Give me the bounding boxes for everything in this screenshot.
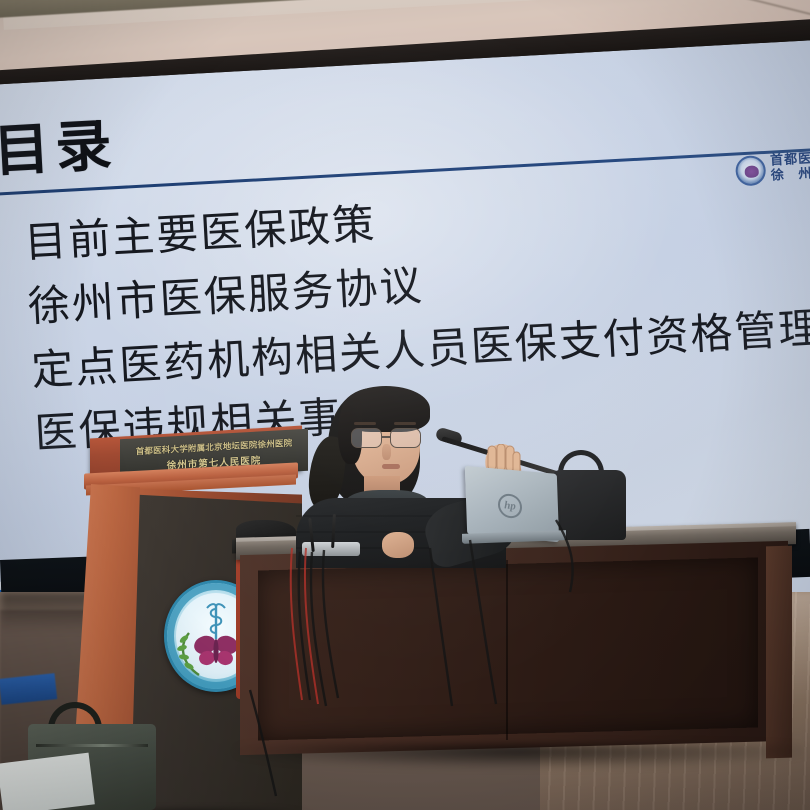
floor-bag-zipper bbox=[36, 744, 148, 747]
desk-right-post bbox=[766, 546, 792, 759]
microphone-cluster bbox=[292, 520, 388, 560]
eyeglass-lens-right bbox=[390, 428, 421, 448]
presenter-mouth bbox=[382, 464, 400, 469]
eyeglass-lens-left bbox=[351, 428, 382, 448]
desk-shadow bbox=[236, 744, 806, 768]
presenter-eyebrow-left bbox=[354, 422, 376, 425]
ceiling-crack bbox=[662, 0, 810, 22]
floor-paper bbox=[0, 753, 95, 810]
desk-panel-seam bbox=[506, 560, 508, 740]
presenter-eyebrow-right bbox=[394, 422, 416, 425]
presenter-nose bbox=[382, 444, 391, 460]
photo-canvas: 目录 目前主要医保政策 徐州市医保服务协议 定点医药机构相关人员医保支付资格管理… bbox=[0, 0, 810, 810]
desk-modesty-panel bbox=[258, 557, 758, 740]
laptop: hp bbox=[466, 470, 570, 544]
